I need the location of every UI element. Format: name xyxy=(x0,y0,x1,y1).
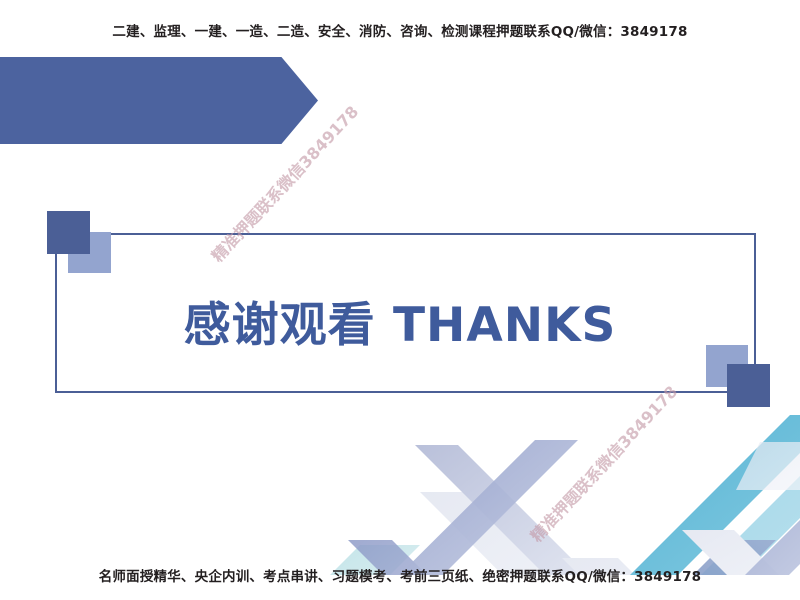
page-title: 感谢观看 THANKS xyxy=(0,286,800,355)
frame-top-line xyxy=(90,233,756,235)
frame-bottom-line xyxy=(55,391,751,393)
top-left-dark-square xyxy=(47,211,90,254)
header-promo-text: 二建、监理、一建、一造、二造、安全、消防、咨询、检测课程押题联系QQ/微信：38… xyxy=(0,20,800,40)
arrow-banner-shape xyxy=(0,57,318,144)
bottom-right-dark-square xyxy=(727,364,770,407)
slide-canvas: 二建、监理、一建、一造、二造、安全、消防、咨询、检测课程押题联系QQ/微信：38… xyxy=(0,0,800,600)
footer-promo-text: 名师面授精华、央企内训、考点串讲、习题模考、考前三页纸、绝密押题联系QQ/微信：… xyxy=(0,565,800,585)
chevron-decoration xyxy=(330,400,800,575)
